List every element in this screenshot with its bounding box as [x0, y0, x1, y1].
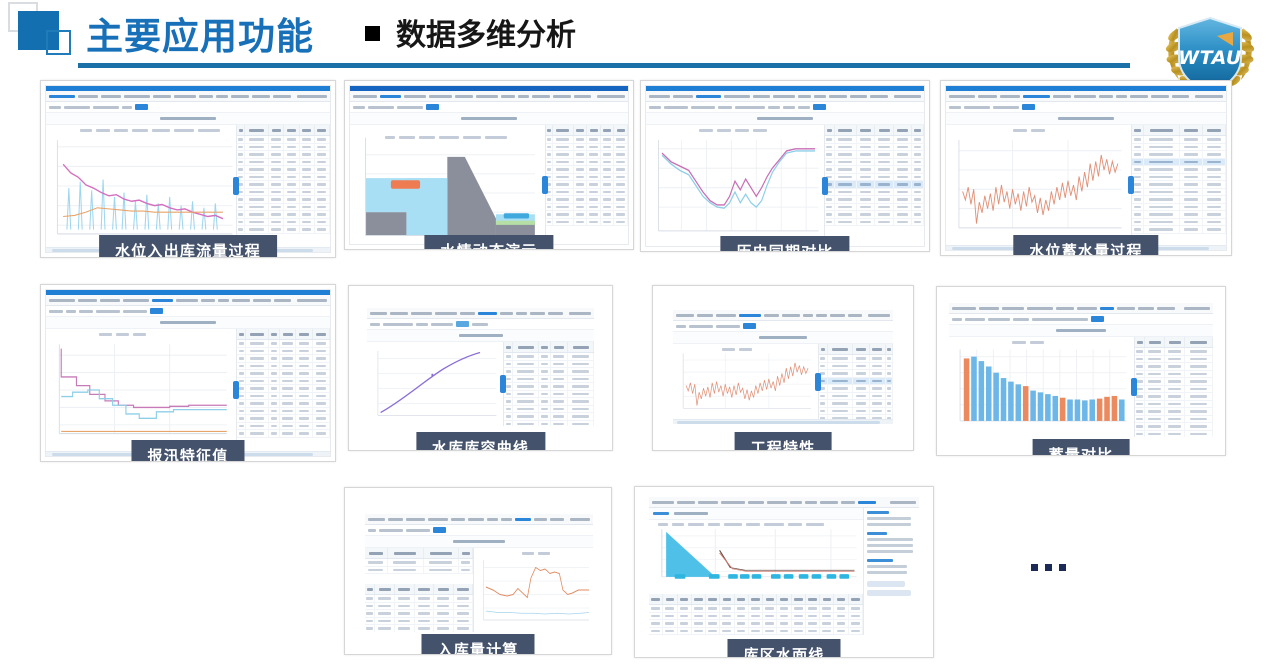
filter-label — [353, 106, 365, 109]
nav-item[interactable] — [78, 95, 98, 98]
nav-item[interactable] — [516, 312, 527, 315]
nav-item[interactable] — [1077, 307, 1097, 310]
nav-item[interactable] — [782, 314, 800, 317]
table-row[interactable] — [237, 151, 330, 159]
panel-option[interactable] — [867, 544, 913, 547]
user-info — [297, 299, 327, 302]
table-row[interactable] — [1132, 166, 1226, 174]
text-input[interactable] — [735, 106, 765, 109]
nav-item[interactable] — [550, 518, 564, 521]
nav-item[interactable] — [848, 314, 862, 317]
nav-item[interactable] — [515, 518, 530, 521]
date-input[interactable] — [964, 106, 990, 109]
nav-item[interactable] — [428, 518, 448, 521]
table-row[interactable] — [237, 181, 330, 189]
nav-item[interactable] — [460, 312, 475, 315]
nav-item[interactable] — [574, 95, 592, 98]
nav-item[interactable] — [790, 501, 802, 504]
select-input[interactable] — [383, 323, 413, 326]
table-row[interactable] — [1132, 211, 1226, 219]
panel-button[interactable] — [867, 590, 911, 596]
nav-item[interactable] — [532, 95, 550, 98]
app-toolbar — [350, 102, 628, 113]
panel-field[interactable] — [867, 517, 911, 520]
checkbox[interactable] — [798, 106, 810, 109]
nav-item[interactable] — [199, 95, 213, 98]
app-toolbar — [646, 102, 924, 113]
horizontal-scrollbar[interactable] — [673, 419, 893, 424]
panel-toggle-button[interactable] — [542, 176, 548, 194]
panel-field[interactable] — [867, 571, 907, 574]
panel-option[interactable] — [867, 538, 913, 541]
nav-item[interactable] — [773, 95, 794, 98]
table-row[interactable] — [237, 211, 330, 219]
date-input[interactable] — [93, 106, 119, 109]
date-input[interactable] — [368, 106, 394, 109]
chart-caption — [46, 317, 330, 329]
capacity-curve-chart — [367, 342, 503, 426]
table-header-row — [365, 548, 473, 559]
nav-item[interactable] — [548, 312, 563, 315]
nav-item[interactable] — [724, 95, 749, 98]
nav-item[interactable] — [101, 95, 121, 98]
nav-item[interactable] — [1000, 95, 1020, 98]
user-info — [890, 501, 916, 504]
date-input[interactable] — [379, 529, 403, 532]
filter-label — [416, 323, 428, 326]
table-row[interactable] — [1132, 204, 1226, 212]
nav-item[interactable] — [252, 95, 270, 98]
nav-item[interactable] — [501, 518, 513, 521]
nav-item[interactable] — [816, 314, 827, 317]
thumbnail-card[interactable]: 报汛特征值 — [40, 284, 336, 462]
panel-button[interactable] — [867, 581, 905, 587]
table-row[interactable] — [825, 174, 924, 182]
thumbnail-card[interactable]: 工程特性 — [652, 285, 914, 451]
table-row[interactable] — [504, 353, 594, 361]
table-row[interactable] — [1135, 356, 1213, 364]
nav-item[interactable] — [216, 95, 228, 98]
table-row[interactable] — [546, 166, 628, 174]
nav-item[interactable] — [1100, 307, 1114, 310]
nav-item[interactable] — [767, 501, 787, 504]
nav-item[interactable] — [518, 95, 530, 98]
app-navbar — [46, 91, 330, 102]
table-row[interactable] — [819, 378, 893, 386]
table-row[interactable] — [819, 400, 893, 408]
app-content — [46, 329, 330, 451]
date-input[interactable] — [716, 325, 740, 328]
panel-toggle-button[interactable] — [1128, 176, 1134, 194]
nav-item[interactable] — [696, 95, 721, 98]
table-row[interactable] — [237, 226, 330, 234]
table-row[interactable] — [365, 595, 473, 603]
nav-item[interactable] — [78, 299, 98, 302]
nav-item[interactable] — [676, 314, 694, 317]
table-row[interactable] — [825, 144, 924, 152]
table-row[interactable] — [237, 415, 330, 423]
nav-item[interactable] — [1138, 307, 1154, 310]
query-button[interactable] — [456, 321, 469, 327]
nav-item[interactable] — [1151, 95, 1169, 98]
query-button[interactable] — [1091, 316, 1104, 322]
app-navbar — [350, 91, 628, 102]
thumbnail-frame: 水位蓄水量过程 — [940, 80, 1232, 256]
thumbnail-card[interactable]: 入库量计算 — [344, 487, 612, 655]
table-row[interactable] — [825, 166, 924, 174]
nav-item[interactable] — [673, 95, 693, 98]
table-row[interactable] — [546, 144, 628, 152]
nav-item[interactable] — [978, 95, 998, 98]
nav-item[interactable] — [850, 95, 868, 98]
nav-item[interactable] — [478, 312, 497, 315]
nav-item[interactable] — [429, 95, 453, 98]
nav-item[interactable] — [649, 95, 670, 98]
nav-item[interactable] — [1172, 95, 1190, 98]
table-row[interactable] — [237, 378, 330, 386]
table-row[interactable] — [1135, 393, 1213, 401]
table-row[interactable] — [825, 181, 924, 189]
nav-item[interactable] — [952, 307, 976, 310]
table-row[interactable] — [237, 166, 330, 174]
nav-item[interactable] — [100, 299, 120, 302]
table-row[interactable] — [237, 144, 330, 152]
table-row[interactable] — [819, 355, 893, 363]
panel-field[interactable] — [867, 523, 911, 526]
nav-item[interactable] — [530, 312, 545, 315]
table-row[interactable] — [1135, 386, 1213, 394]
table-row[interactable] — [1132, 151, 1226, 159]
table-row[interactable] — [819, 393, 893, 401]
nav-item[interactable] — [411, 312, 431, 315]
table-row[interactable] — [825, 196, 924, 204]
table-row[interactable] — [365, 618, 473, 626]
panel-toggle-button[interactable] — [822, 177, 828, 195]
nav-item[interactable] — [174, 95, 196, 98]
table-row[interactable] — [546, 196, 628, 204]
nav-item[interactable] — [553, 95, 571, 98]
page-title: 主要应用功能 — [86, 6, 314, 60]
nav-item[interactable] — [406, 518, 425, 521]
panel-toggle-button[interactable] — [1131, 378, 1137, 396]
nav-item[interactable] — [1099, 95, 1113, 98]
table-row[interactable] — [825, 159, 924, 167]
nav-item[interactable] — [652, 501, 674, 504]
table-row[interactable] — [649, 613, 863, 621]
date-input[interactable] — [64, 106, 90, 109]
nav-item[interactable] — [858, 501, 876, 504]
nav-item[interactable] — [218, 299, 230, 302]
app-content — [46, 125, 330, 247]
query-button[interactable] — [1022, 104, 1035, 110]
select-input[interactable] — [718, 106, 732, 109]
table-row[interactable] — [504, 421, 594, 427]
nav-item[interactable] — [201, 299, 215, 302]
nav-item[interactable] — [820, 501, 838, 504]
nav-item[interactable] — [753, 95, 771, 98]
nav-item[interactable] — [841, 501, 855, 504]
nav-item[interactable] — [368, 518, 385, 521]
table-header-row — [237, 329, 330, 340]
table-row[interactable] — [1135, 401, 1213, 409]
filter-label — [649, 106, 661, 109]
nav-item[interactable] — [739, 314, 761, 317]
table-row[interactable] — [1135, 416, 1213, 424]
nav-item[interactable] — [830, 314, 844, 317]
chart-caption — [946, 113, 1226, 125]
nav-item[interactable] — [870, 95, 888, 98]
table-row[interactable] — [237, 348, 330, 356]
panel-toggle-button[interactable] — [500, 375, 506, 393]
nav-item[interactable] — [388, 518, 403, 521]
table-row[interactable] — [546, 151, 628, 159]
app-toolbar — [46, 306, 330, 317]
table-row[interactable] — [825, 151, 924, 159]
nav-item[interactable] — [716, 314, 736, 317]
table-row[interactable] — [237, 189, 330, 197]
nav-item[interactable] — [353, 95, 377, 98]
nav-item[interactable] — [153, 95, 171, 98]
thumbnail-card[interactable]: 库区水面线 — [634, 486, 934, 658]
nav-item[interactable] — [1023, 95, 1051, 98]
nav-item[interactable] — [805, 501, 817, 504]
nav-item[interactable] — [829, 95, 847, 98]
nav-item[interactable] — [1074, 95, 1096, 98]
table-row[interactable] — [504, 383, 594, 391]
thumbnail-card[interactable]: 蓄量对比 — [936, 286, 1226, 456]
nav-item[interactable] — [979, 307, 999, 310]
table-row[interactable] — [237, 219, 330, 227]
table-row[interactable] — [237, 363, 330, 371]
nav-item[interactable] — [487, 518, 497, 521]
table-row[interactable] — [365, 559, 473, 567]
nav-item[interactable] — [232, 299, 250, 302]
table-row[interactable] — [546, 159, 628, 167]
select-input[interactable] — [122, 106, 132, 109]
table-row[interactable] — [237, 423, 330, 431]
checkbox[interactable] — [768, 106, 780, 109]
table-row[interactable] — [649, 605, 863, 613]
nav-item[interactable] — [451, 518, 465, 521]
date-input[interactable] — [123, 310, 147, 313]
query-button[interactable] — [426, 104, 439, 110]
table-row[interactable] — [237, 136, 330, 144]
panel-toggle-button[interactable] — [233, 381, 239, 399]
date-input[interactable] — [689, 325, 713, 328]
nav-item[interactable] — [501, 95, 515, 98]
nav-item[interactable] — [380, 95, 402, 98]
table-row[interactable] — [504, 376, 594, 384]
table-row[interactable] — [504, 406, 594, 414]
table-row[interactable] — [825, 219, 924, 227]
table-row[interactable] — [1132, 144, 1226, 152]
table-row[interactable] — [237, 400, 330, 408]
table-row[interactable] — [1135, 408, 1213, 416]
date-input[interactable] — [988, 318, 1010, 321]
table-row[interactable] — [504, 413, 594, 421]
nav-item[interactable] — [1130, 95, 1148, 98]
date-input[interactable] — [96, 310, 120, 313]
table-row[interactable] — [1132, 196, 1226, 204]
table-row[interactable] — [819, 408, 893, 416]
nav-item[interactable] — [476, 95, 498, 98]
table-row[interactable] — [1132, 219, 1226, 227]
table-row[interactable] — [237, 370, 330, 378]
date-input[interactable] — [397, 106, 423, 109]
nav-item[interactable] — [1116, 95, 1128, 98]
query-button[interactable] — [433, 527, 446, 533]
nav-item[interactable] — [370, 312, 387, 315]
data-table — [1131, 125, 1226, 245]
nav-item[interactable] — [500, 312, 513, 315]
nav-item[interactable] — [123, 299, 149, 302]
query-button[interactable] — [150, 308, 163, 314]
nav-item[interactable] — [1027, 307, 1053, 310]
table-row[interactable] — [1132, 174, 1226, 182]
table-row[interactable] — [365, 625, 473, 632]
table-row[interactable] — [1132, 189, 1226, 197]
table-row[interactable] — [365, 603, 473, 611]
table-row[interactable] — [1132, 159, 1226, 167]
query-button[interactable] — [743, 323, 756, 329]
table-row[interactable] — [237, 204, 330, 212]
table-row[interactable] — [819, 363, 893, 371]
nav-item[interactable] — [1053, 95, 1071, 98]
table-row[interactable] — [546, 189, 628, 197]
select-input[interactable] — [66, 310, 76, 313]
panel-toggle-button[interactable] — [233, 177, 239, 195]
nav-item[interactable] — [1056, 307, 1074, 310]
panel-toggle-button[interactable] — [815, 373, 821, 391]
table-row[interactable] — [825, 204, 924, 212]
table-row[interactable] — [504, 391, 594, 399]
nav-item[interactable] — [949, 95, 975, 98]
table-row[interactable] — [825, 136, 924, 144]
table-row[interactable] — [237, 340, 330, 348]
date-input[interactable] — [691, 106, 715, 109]
thumbnail-card[interactable]: 水位入出库流量过程 — [40, 80, 336, 258]
table-row[interactable] — [546, 181, 628, 189]
query-button[interactable] — [135, 104, 148, 110]
table-row[interactable] — [1135, 371, 1213, 379]
date-input[interactable] — [406, 529, 430, 532]
table-row[interactable] — [546, 219, 628, 227]
nav-item[interactable] — [1157, 307, 1175, 310]
table-row[interactable] — [819, 385, 893, 393]
table-row[interactable] — [237, 159, 330, 167]
table-row[interactable] — [649, 620, 863, 628]
table-row[interactable] — [237, 408, 330, 416]
nav-item[interactable] — [49, 299, 75, 302]
table-row[interactable] — [237, 355, 330, 363]
date-input[interactable] — [993, 106, 1019, 109]
nav-item[interactable] — [721, 501, 745, 504]
nav-item[interactable] — [152, 299, 174, 302]
thumbnail-card[interactable]: 历史同期对比 — [640, 80, 930, 252]
nav-item[interactable] — [124, 95, 150, 98]
nav-item[interactable] — [1117, 307, 1135, 310]
table-row[interactable] — [546, 211, 628, 219]
nav-item[interactable] — [390, 312, 409, 315]
table-row[interactable] — [1135, 348, 1213, 356]
nav-item[interactable] — [798, 95, 812, 98]
app-navbar — [365, 514, 593, 525]
nav-item[interactable] — [1002, 307, 1024, 310]
table-row[interactable] — [1135, 423, 1213, 431]
table-row[interactable] — [237, 430, 330, 438]
nav-item[interactable] — [764, 314, 778, 317]
thumbnail-card[interactable]: 水情动态演示 — [344, 80, 634, 250]
nav-item[interactable] — [231, 95, 249, 98]
table-row[interactable] — [237, 196, 330, 204]
table-row[interactable] — [819, 370, 893, 378]
nav-item[interactable] — [274, 299, 292, 302]
table-row[interactable] — [1135, 378, 1213, 386]
table-row[interactable] — [504, 368, 594, 376]
table-row[interactable] — [1132, 136, 1226, 144]
nav-item[interactable] — [803, 314, 814, 317]
panel-heading — [867, 511, 889, 514]
table-row[interactable] — [365, 610, 473, 618]
nav-item[interactable] — [435, 312, 457, 315]
table-row[interactable] — [825, 211, 924, 219]
nav-item[interactable] — [677, 501, 695, 504]
nav-item[interactable] — [468, 518, 485, 521]
checkbox[interactable] — [783, 106, 795, 109]
table-row[interactable] — [237, 174, 330, 182]
nav-item[interactable] — [455, 95, 473, 98]
table-row[interactable] — [1132, 226, 1226, 234]
table-row[interactable] — [504, 398, 594, 406]
table-row[interactable] — [546, 136, 628, 144]
select-input[interactable] — [965, 318, 985, 321]
table-row[interactable] — [546, 204, 628, 212]
nav-item[interactable] — [534, 518, 548, 521]
nav-item[interactable] — [253, 299, 271, 302]
nav-item[interactable] — [404, 95, 426, 98]
nav-item[interactable] — [49, 95, 75, 98]
nav-item[interactable] — [814, 95, 826, 98]
app-navbar — [646, 91, 924, 102]
table-row[interactable] — [649, 628, 863, 636]
nav-item[interactable] — [697, 314, 713, 317]
table-row[interactable] — [825, 189, 924, 197]
thumbnail-card[interactable]: 水位蓄水量过程 — [940, 80, 1232, 256]
nav-item[interactable] — [273, 95, 291, 98]
thumbnail-frame: 水情动态演示 — [344, 80, 634, 250]
panel-option[interactable] — [867, 550, 913, 553]
text-input[interactable] — [431, 323, 453, 326]
table-row[interactable] — [1132, 181, 1226, 189]
table-row[interactable] — [237, 385, 330, 393]
table-row[interactable] — [365, 567, 473, 575]
table-row[interactable] — [1135, 363, 1213, 371]
thumbnail-frame: 水位入出库流量过程 — [40, 80, 336, 258]
text-input[interactable] — [1032, 318, 1088, 321]
table-row[interactable] — [546, 174, 628, 182]
date-input[interactable] — [664, 106, 688, 109]
panel-field[interactable] — [867, 565, 907, 568]
table-row[interactable] — [237, 393, 330, 401]
query-button[interactable] — [813, 104, 826, 110]
nav-item[interactable] — [176, 299, 198, 302]
table-row[interactable] — [504, 361, 594, 369]
thumbnail-card[interactable]: 水库库容曲线 — [348, 285, 613, 451]
filter-label — [49, 310, 63, 313]
nav-item[interactable] — [698, 501, 718, 504]
nav-item[interactable] — [748, 501, 764, 504]
table-row[interactable] — [1135, 431, 1213, 438]
